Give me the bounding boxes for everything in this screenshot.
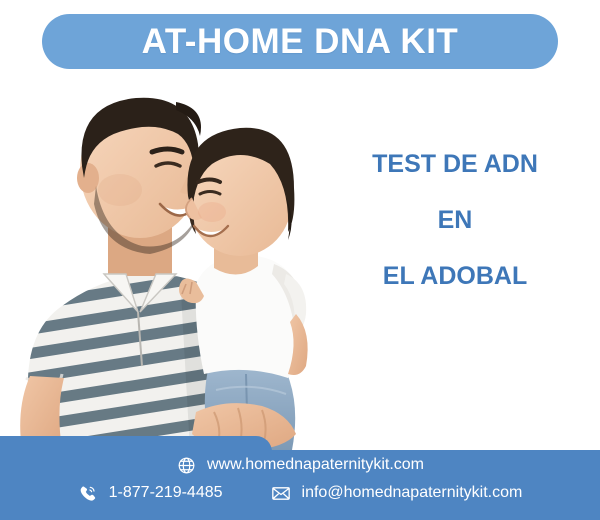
footer-website[interactable]: www.homednapaternitykit.com <box>176 455 424 475</box>
headline-block: TEST DE ADN EN EL ADOBAL <box>330 152 580 289</box>
footer-row-website: www.homednapaternitykit.com <box>0 455 600 475</box>
family-photo <box>0 78 330 450</box>
footer-email[interactable]: info@homednapaternitykit.com <box>271 483 523 503</box>
headline-line-1: TEST DE ADN <box>330 152 580 177</box>
phone-icon <box>78 483 98 503</box>
header-badge: AT-HOME DNA KIT <box>42 14 558 69</box>
headline-line-2: EN <box>330 208 580 233</box>
envelope-icon <box>271 483 291 503</box>
globe-icon <box>176 455 196 475</box>
footer-row-contact: 1-877-219-4485 info@homednapaternitykit.… <box>0 483 600 503</box>
footer-website-text: www.homednapaternitykit.com <box>207 457 424 473</box>
footer-phone[interactable]: 1-877-219-4485 <box>78 483 223 503</box>
family-photo-graphic <box>0 78 330 450</box>
poster-canvas: AT-HOME DNA KIT <box>0 0 600 520</box>
footer-content: www.homednapaternitykit.com 1-877-219-44… <box>0 450 600 520</box>
footer-email-text: info@homednapaternitykit.com <box>302 485 523 501</box>
headline-line-3: EL ADOBAL <box>330 264 580 289</box>
header-badge-label: AT-HOME DNA KIT <box>142 24 459 59</box>
footer-phone-text: 1-877-219-4485 <box>109 485 223 501</box>
